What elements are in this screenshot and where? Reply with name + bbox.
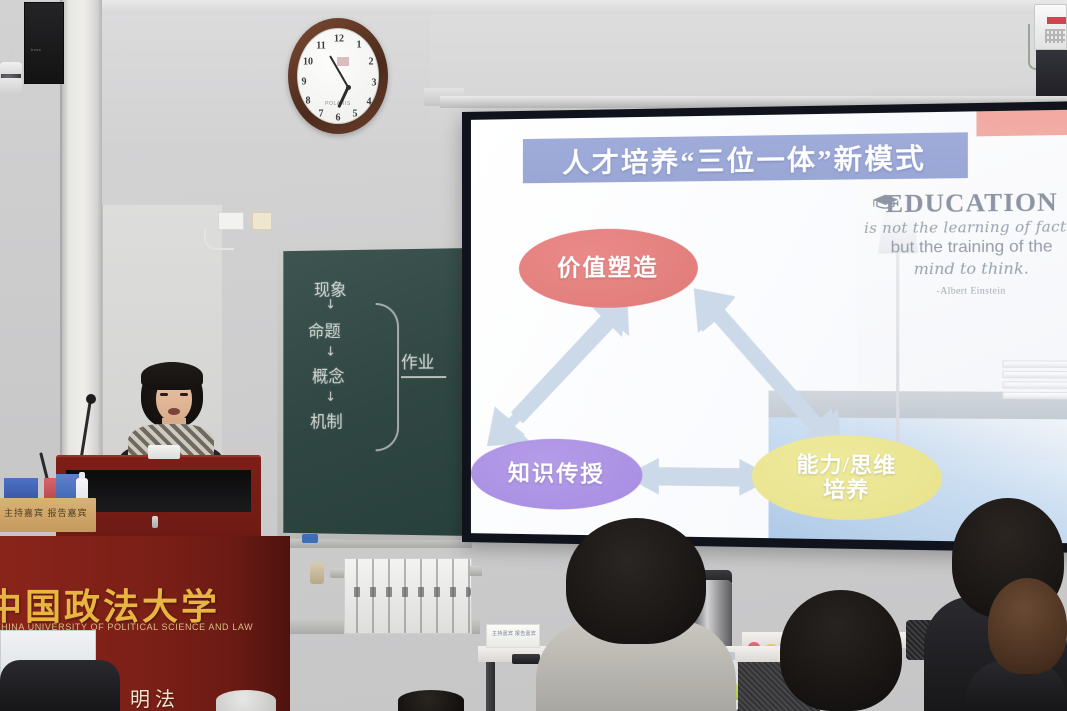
microphone-icon[interactable] bbox=[86, 394, 96, 404]
wall-outlet-white[interactable] bbox=[218, 212, 244, 230]
presenter-mouth bbox=[168, 408, 180, 415]
chalk-term-3: 概念 bbox=[312, 362, 345, 387]
chalk-term-4: 机制 bbox=[310, 408, 343, 433]
clock-numeral: 5 bbox=[353, 109, 358, 120]
arrow-knowledge-value bbox=[481, 291, 643, 453]
chalk-underline bbox=[401, 376, 446, 378]
audience-member-head bbox=[216, 690, 276, 711]
chalk-side-note: 作业 bbox=[401, 348, 434, 373]
table-name-card: 主持嘉宾 报告嘉宾 bbox=[486, 624, 540, 648]
wall-ac-unit bbox=[0, 78, 22, 96]
slide-title: 人才培养“三位一体”新模式 bbox=[523, 132, 968, 183]
clock-numeral: 9 bbox=[302, 77, 307, 88]
clock-numeral: 1 bbox=[357, 40, 362, 51]
wall-clock: 12 1 2 3 4 5 6 7 8 9 10 11 POLARIS bbox=[288, 18, 388, 134]
einstein-quote-decal: EDUCATION is not the learning of facts, … bbox=[861, 189, 1067, 347]
control-panel-keypad[interactable] bbox=[1045, 29, 1065, 43]
table-name-card-text: 主持嘉宾 报告嘉宾 bbox=[492, 630, 536, 637]
audience-member-head bbox=[566, 518, 706, 644]
clock-face: 12 1 2 3 4 5 6 7 8 9 10 11 POLARIS bbox=[297, 28, 379, 124]
presenter-hair-front bbox=[141, 362, 203, 390]
blackboard-surface: 现象 ↓ 命题 ↓ 概念 ↓ 机制 作业 bbox=[283, 248, 466, 536]
decal-line-4: mind to think. bbox=[861, 259, 1067, 279]
chalk-arrow-2: ↓ bbox=[325, 345, 335, 360]
radiator-pipe-right bbox=[470, 566, 482, 576]
blackboard: 现象 ↓ 命题 ↓ 概念 ↓ 机制 作业 bbox=[278, 242, 472, 542]
clock-numeral: 11 bbox=[316, 41, 325, 52]
node-ability-label-line2: 培养 bbox=[823, 477, 869, 502]
phone-icon[interactable] bbox=[148, 445, 180, 459]
radiator bbox=[344, 558, 472, 634]
books-icon bbox=[1002, 360, 1067, 404]
radiator-joints bbox=[345, 587, 471, 597]
audience-member-head bbox=[398, 690, 464, 711]
speaker-brand-label: bose bbox=[31, 47, 41, 52]
decal-line-2: is not the learning of facts, bbox=[861, 219, 1067, 237]
clock-numeral: 3 bbox=[372, 78, 377, 89]
node-value-shaping-label: 价值塑造 bbox=[557, 255, 659, 282]
audience-member-head bbox=[780, 590, 902, 711]
wall-control-panel[interactable] bbox=[1034, 4, 1067, 50]
decal-line-3: but the training of the bbox=[861, 238, 1067, 258]
node-ability-label-line1: 能力/思维 bbox=[796, 452, 896, 478]
clock-center-pin bbox=[346, 85, 351, 90]
node-knowledge-transfer-label: 知识传授 bbox=[508, 461, 605, 488]
presentation-slide: EDUCATION is not the learning of facts, … bbox=[471, 109, 1067, 543]
decal-attribution: -Albert Einstein bbox=[861, 285, 1067, 296]
projection-screen-surface: EDUCATION is not the learning of facts, … bbox=[471, 109, 1067, 543]
chalk-arrow-1: ↓ bbox=[325, 298, 335, 313]
wall-cable bbox=[204, 228, 234, 250]
chalk-arrow-3: ↓ bbox=[325, 390, 335, 405]
podium-motto: 明法 bbox=[130, 683, 180, 711]
podium-knob[interactable] bbox=[152, 516, 158, 528]
speaker-icon: bose bbox=[24, 2, 64, 84]
clock-numeral: 7 bbox=[319, 109, 324, 120]
slide-title-text: 人才培养“三位一体”新模式 bbox=[562, 136, 926, 181]
lecture-hall-photo: bose 12 1 2 3 4 5 6 7 8 9 10 11 POLARIS bbox=[0, 0, 1067, 711]
audience-member-head bbox=[988, 578, 1067, 674]
desk-item-blue bbox=[4, 478, 38, 498]
clock-numeral: 10 bbox=[303, 57, 313, 68]
presenter-eye-left bbox=[160, 393, 168, 396]
marker-icon[interactable] bbox=[302, 534, 318, 543]
table-leg bbox=[486, 662, 495, 711]
chalk-term-2: 命题 bbox=[308, 317, 341, 342]
clock-numeral: 8 bbox=[306, 96, 311, 107]
name-plate-text: 主持嘉宾 报告嘉宾 bbox=[4, 506, 88, 519]
ceiling-trim bbox=[0, 0, 1067, 14]
clock-numeral: 12 bbox=[334, 34, 344, 45]
clock-logo bbox=[337, 57, 349, 66]
graduation-cap-icon bbox=[872, 193, 900, 210]
clock-numeral: 2 bbox=[369, 57, 374, 68]
node-value-shaping: 价值塑造 bbox=[519, 228, 698, 308]
wall-outlet-beige[interactable] bbox=[252, 212, 272, 230]
table-phone-icon[interactable] bbox=[512, 654, 540, 664]
name-plate: 主持嘉宾 报告嘉宾 bbox=[0, 498, 96, 532]
control-panel-display bbox=[1047, 17, 1066, 24]
presenter-eye-right bbox=[180, 393, 188, 396]
chalk-brace bbox=[376, 303, 399, 452]
projection-screen: EDUCATION is not the learning of facts, … bbox=[462, 101, 1067, 553]
clock-numeral: 4 bbox=[367, 97, 372, 108]
audience-member-torso bbox=[0, 660, 120, 711]
clock-numeral: 6 bbox=[336, 113, 341, 124]
radiator-valve[interactable] bbox=[310, 562, 324, 584]
